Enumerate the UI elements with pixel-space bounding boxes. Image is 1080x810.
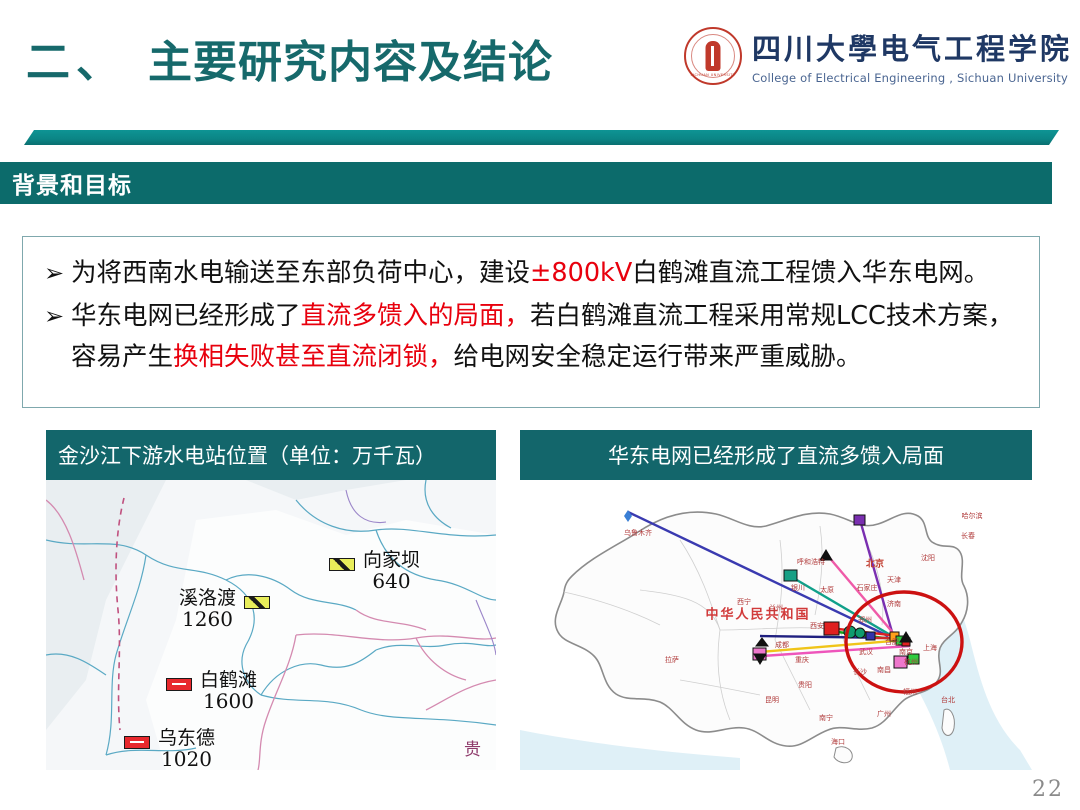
city-label-beijing: 北京 [866,557,884,570]
body-text: 给电网安全稳定运行带来严重威胁。 [454,342,862,372]
city-label-guangzhou: 广州 [877,709,891,719]
title-numeral: 二、 [26,37,126,88]
page-number: 22 [1032,777,1064,802]
city-label-nanjing: 南京 [899,647,913,657]
station-baihetan: 白鹤滩 1600 [166,670,257,712]
bullet-arrow-icon: ➢ [37,296,71,337]
bullet-text-2: 华东电网已经形成了直流多馈入的局面，若白鹤滩直流工程采用常规LCC技术方案，容易… [71,296,1025,378]
station-xiluodu-name: 溪洛渡 [179,587,236,609]
section-title: 背景和目标 [12,166,132,200]
city-label-xian: 西安 [810,621,824,631]
content-text-box: ➢ 为将西南水电输送至东部负荷中心，建设±800kV白鹤滩直流工程馈入华东电网。… [22,236,1040,408]
title-main-text: 主要研究内容及结论 [148,37,553,88]
figure-east-china-hvdc: 华东电网已经形成了直流多馈入局面 [520,430,1032,770]
station-wudongde: 乌东德 1020 [124,728,215,770]
logo-english-name: College of Electrical Engineering , Sich… [752,71,1072,85]
city-label-chongqing: 重庆 [795,655,809,665]
city-label-jinan: 济南 [887,599,901,609]
university-logo: SICHUAN UNIVERSITY 四川大學电气工程学院 College of… [684,26,1072,85]
map-china-hvdc: 中华人民共和国 乌鲁木齐 哈尔滨 长春 沈阳 呼和浩特 北京 天津 石家庄 太原… [520,480,1032,770]
bullet-text-1: 为将西南水电输送至东部负荷中心，建设±800kV白鹤滩直流工程馈入华东电网。 [71,253,1025,294]
station-xiangjiaba-label: 向家坝 640 [363,550,420,592]
page-title: 二、主要研究内容及结论 [26,26,553,90]
emphasis-text: 换相失败甚至直流闭锁， [173,342,454,372]
section-header-bar: 背景和目标 [0,162,1052,204]
city-label-hefei: 合肥 [885,637,899,647]
station-xiangjiaba-name: 向家坝 [363,549,420,571]
city-label-zhengzhou: 郑州 [858,615,872,625]
city-label-yinchuan: 银川 [791,583,805,593]
figure-jinsha-river-stations: 金沙江下游水电站位置（单位：万千瓦） [46,430,496,770]
city-label-changsha: 长沙 [853,667,867,677]
seal-ring-text: SICHUAN UNIVERSITY [686,73,740,77]
city-label-shenyang: 沈阳 [921,553,935,563]
city-label-lhasa: 拉萨 [665,655,679,665]
torch-icon [705,41,720,71]
province-label-guizhou: 贵 [464,735,481,760]
china-map-geometry [520,480,1032,770]
city-label-kunming: 昆明 [765,695,779,705]
city-label-shijiazhuang: 石家庄 [857,583,878,593]
city-label-lanzhou: 兰州 [769,603,783,613]
map-jinsha-river: 溪洛渡 1260 向家坝 640 白鹤滩 1600 [46,480,496,770]
city-label-nanchang: 南昌 [877,665,891,675]
station-marker-icon [244,596,270,609]
station-xiluodu: 溪洛渡 1260 [179,588,270,630]
station-marker-icon [329,558,355,571]
station-baihetan-value: 1600 [200,691,257,712]
teal-divider-bar [24,130,1059,145]
map-left-geometry [46,480,496,770]
figure-right-caption: 华东电网已经形成了直流多馈入局面 [520,430,1032,480]
city-label-nanning: 南宁 [819,713,833,723]
station-xiangjiaba: 向家坝 640 [329,550,420,592]
station-marker-icon [166,678,192,691]
city-label-tianjin: 天津 [887,575,901,585]
country-name-label: 中华人民共和国 [705,604,810,623]
presentation-slide: 二、主要研究内容及结论 SICHUAN UNIVERSITY 四川大學电气工程学… [0,0,1080,810]
city-label-hohhot: 呼和浩特 [797,557,825,567]
city-label-chengdu: 成都 [775,640,789,650]
station-baihetan-label: 白鹤滩 1600 [200,670,257,712]
emphasis-text: ±800kV [530,258,632,288]
station-xiluodu-value: 1260 [179,609,236,630]
station-wudongde-label: 乌东德 1020 [158,728,215,770]
emphasis-text: 直流多馈入的局面， [301,301,531,331]
university-seal-icon: SICHUAN UNIVERSITY [684,27,742,85]
figure-left-caption: 金沙江下游水电站位置（单位：万千瓦） [46,430,496,480]
city-label-guiyang: 贵阳 [798,680,812,690]
city-label-taiyuan: 太原 [820,585,834,595]
bullet-arrow-icon: ➢ [37,253,71,294]
city-label-harbin: 哈尔滨 [962,511,983,521]
city-label-shanghai: 上海 [923,643,937,653]
city-label-hangzhou: 杭州 [904,657,918,667]
bullet-item-2: ➢ 华东电网已经形成了直流多馈入的局面，若白鹤滩直流工程采用常规LCC技术方案，… [37,296,1025,378]
station-wudongde-name: 乌东德 [158,727,215,749]
body-text: 华东电网已经形成了 [71,301,301,331]
city-label-xining: 西宁 [737,597,751,607]
station-wudongde-value: 1020 [158,749,215,770]
city-label-haikou: 海口 [831,737,845,747]
slide-header: 二、主要研究内容及结论 SICHUAN UNIVERSITY 四川大學电气工程学… [0,0,1080,112]
station-xiluodu-label: 溪洛渡 1260 [179,588,236,630]
city-label-changchun: 长春 [961,531,975,541]
body-text: 白鹤滩直流工程馈入华东电网。 [632,258,989,288]
bullet-item-1: ➢ 为将西南水电输送至东部负荷中心，建设±800kV白鹤滩直流工程馈入华东电网。 [37,253,1025,294]
city-label-urumqi: 乌鲁木齐 [624,528,652,538]
logo-text-block: 四川大學电气工程学院 College of Electrical Enginee… [752,26,1072,85]
station-baihetan-name: 白鹤滩 [200,669,257,691]
logo-chinese-name: 四川大學电气工程学院 [752,26,1072,68]
body-text: 为将西南水电输送至东部负荷中心，建设 [71,258,530,288]
station-marker-icon [124,736,150,749]
city-label-taipei: 台北 [941,695,955,705]
station-xiangjiaba-value: 640 [363,571,420,592]
city-label-wuhan: 武汉 [859,647,873,657]
city-label-fuzhou: 福州 [903,687,917,697]
